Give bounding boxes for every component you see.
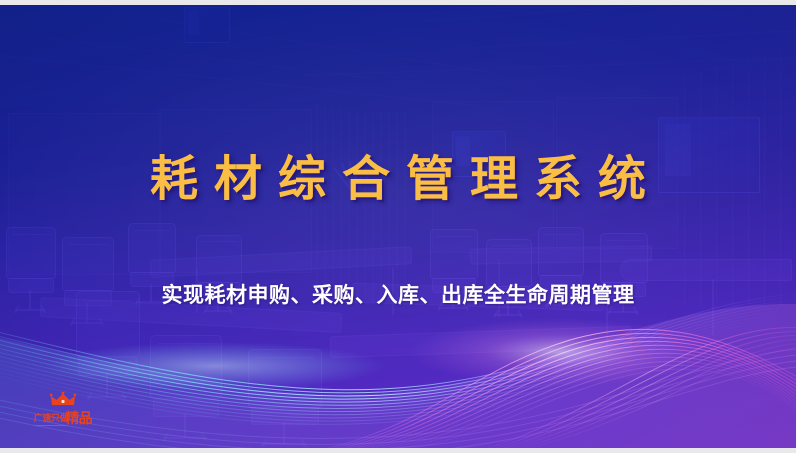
logo-text: 广速只做 精品 [20, 412, 106, 426]
crown-icon [50, 392, 76, 407]
vignette-overlay [0, 5, 796, 448]
subtitle-block: 实现耗材申购、采购、入库、出库全生命周期管理 [0, 283, 796, 308]
presentation-cover-slide: 耗材综合管理系统 实现耗材申购、采购、入库、出库全生命周期管理 广速只做 精品 [0, 0, 796, 453]
logo-tagline: 广速只做 [34, 415, 68, 426]
page-subtitle: 实现耗材申购、采购、入库、出库全生命周期管理 [162, 283, 635, 308]
watermark-logo: 广速只做 精品 [20, 392, 106, 430]
logo-brand: 精品 [65, 412, 92, 426]
page-title: 耗材综合管理系统 [134, 155, 662, 203]
title-block: 耗材综合管理系统 [0, 155, 796, 203]
